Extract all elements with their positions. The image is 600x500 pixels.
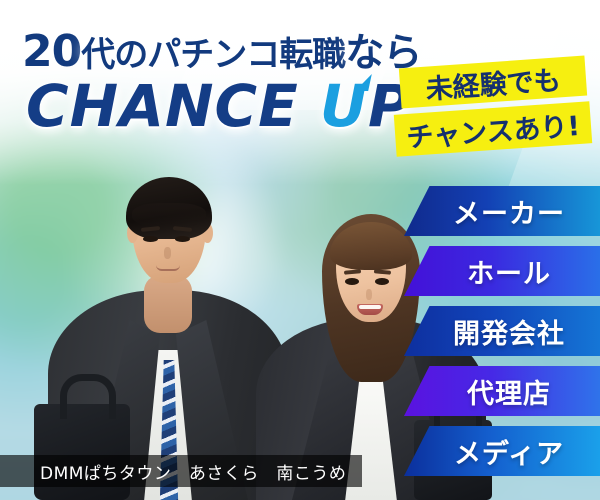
headline-age-number: 20 [22,26,81,77]
female-eye-left [345,278,359,285]
headline-line-1: 20代のパチンコ転職なら [22,22,421,78]
caption-band: DMMぱちタウン あさくら 南こうめ [0,455,362,487]
male-model-photo [48,155,288,500]
male-mouth [156,265,180,271]
category-button-agency[interactable]: 代理店 [404,366,600,416]
category-button-hall[interactable]: ホール [404,246,600,296]
female-mouth [357,304,383,315]
headline-line-1-rest: 代のパチンコ転職 [81,35,345,75]
chance-up-logo: CHANCE UP [26,72,412,140]
male-eye-left [143,236,158,242]
category-button-maker[interactable]: メーカー [404,186,600,236]
logo-letter-u: U [320,72,368,140]
female-eye-right [375,278,389,285]
category-button-media[interactable]: メディア [404,426,600,476]
logo-word-chance: CHANCE [26,72,320,140]
caption-text: DMMぱちタウン あさくら 南こうめ [0,459,346,484]
male-hair [126,177,212,239]
male-eye-right [175,236,190,242]
female-nose [366,289,372,300]
recruitment-banner[interactable]: 20代のパチンコ転職なら CHANCE UP 未経験でも チャンスあり! メーカ… [0,0,600,500]
male-neck [144,275,192,333]
category-button-developer[interactable]: 開発会社 [404,306,600,356]
male-nose [164,247,171,259]
